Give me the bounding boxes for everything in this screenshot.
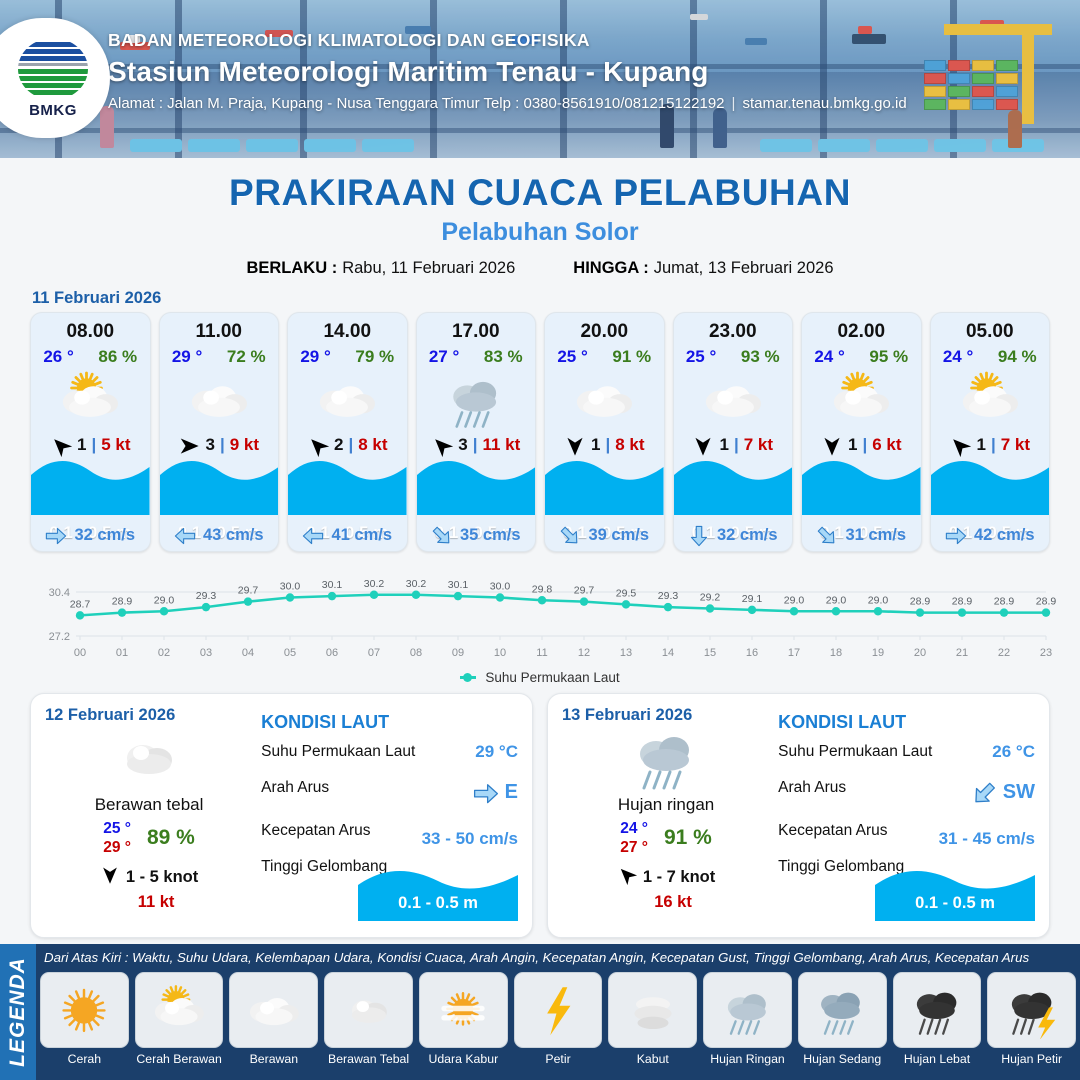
card-temperature: 29 ° xyxy=(300,347,330,367)
card-current-row: 32 cm/s xyxy=(674,526,793,545)
current-speed: 35 cm/s xyxy=(460,526,521,545)
svg-text:30.4: 30.4 xyxy=(49,587,70,599)
svg-text:18: 18 xyxy=(830,647,842,659)
card-humidity: 79 % xyxy=(355,347,394,367)
card-current-row: 35 cm/s xyxy=(417,526,536,545)
current-speed-value: 33 - 50 cm/s xyxy=(422,829,518,849)
wind-speed: 1 xyxy=(591,435,600,455)
wind-speed: 1 xyxy=(719,435,728,455)
wind-speed: 1 xyxy=(77,435,86,455)
svg-text:29.3: 29.3 xyxy=(196,590,217,602)
wave-graphic xyxy=(160,453,279,515)
card-wind-row: 1 | 7 kt xyxy=(949,435,1030,455)
daily-forecast-row: 12 Februari 2026 Berawan tebal 25 ° 29 °… xyxy=(0,685,1080,938)
current-speed-row: Kecepatan Arus 33 - 50 cm/s xyxy=(261,813,518,849)
daily-gust: 16 kt xyxy=(576,893,770,912)
current-speed: 42 cm/s xyxy=(974,526,1035,545)
svg-text:30.0: 30.0 xyxy=(280,581,301,593)
svg-text:19: 19 xyxy=(872,647,884,659)
svg-text:11: 11 xyxy=(536,647,547,659)
card-time: 20.00 xyxy=(580,321,628,343)
card-wind-row: 1 | 7 kt xyxy=(692,435,773,455)
wind-direction-arrow-icon xyxy=(50,435,72,455)
valid-to-value: Jumat, 13 Februari 2026 xyxy=(654,259,834,277)
daily-wave-graphic: 0.1 - 0.5 m xyxy=(875,863,1035,921)
wind-direction-arrow-icon xyxy=(692,435,714,455)
legend-item-label: Kabut xyxy=(637,1052,669,1066)
weather-cloudy-icon xyxy=(229,972,318,1048)
wave-graphic xyxy=(931,453,1050,515)
current-direction-label: Arah Arus xyxy=(261,779,329,797)
svg-text:29.1: 29.1 xyxy=(742,593,763,605)
card-temp-humidity: 29 ° 72 % xyxy=(160,347,279,367)
sea-conditions-heading: KONDISI LAUT xyxy=(261,712,518,733)
port-name: Pelabuhan Solor xyxy=(0,218,1080,247)
sst-chart-svg: 30.427.228.70028.90129.00229.30329.70430… xyxy=(22,566,1058,662)
svg-text:30.1: 30.1 xyxy=(448,579,469,591)
card-humidity: 94 % xyxy=(998,347,1037,367)
page-title: PRAKIRAAN CUACA PELABUHAN xyxy=(0,172,1080,214)
card-temperature: 25 ° xyxy=(686,347,716,367)
weather-sunny-icon xyxy=(40,972,129,1048)
svg-text:23: 23 xyxy=(1040,647,1052,659)
card-temp-humidity: 25 ° 93 % xyxy=(674,347,793,367)
station-name: Stasiun Meteorologi Maritim Tenau - Kupa… xyxy=(108,56,907,88)
wind-speed: 1 xyxy=(848,435,857,455)
card-current-row: 31 cm/s xyxy=(802,526,921,545)
valid-from-value: Rabu, 11 Februari 2026 xyxy=(342,259,515,277)
legend-item-label: Cerah Berawan xyxy=(136,1052,221,1066)
wind-gust: 5 kt xyxy=(101,435,130,455)
weather-cloudy-icon xyxy=(674,369,793,431)
wind-separator: | xyxy=(734,435,739,455)
chart-legend-dot-icon xyxy=(463,673,472,682)
legend-item-label: Udara Kabur xyxy=(428,1052,498,1066)
wind-direction-arrow-icon xyxy=(307,435,329,455)
wind-speed: 2 xyxy=(334,435,343,455)
legend-item-label: Hujan Lebat xyxy=(904,1052,970,1066)
card-wind-row: 1 | 5 kt xyxy=(50,435,131,455)
svg-text:06: 06 xyxy=(326,647,338,659)
hourly-forecast-card: 08.00 26 ° 86 % 1 | 5 kt 0.1 - 0.5 m 32 … xyxy=(30,312,151,552)
svg-text:30.2: 30.2 xyxy=(364,578,385,590)
wave-graphic xyxy=(31,453,150,515)
svg-text:29.0: 29.0 xyxy=(826,594,847,606)
svg-text:16: 16 xyxy=(746,647,758,659)
svg-text:29.3: 29.3 xyxy=(658,590,679,602)
daily-temp-min: 25 ° xyxy=(103,819,131,838)
daily-temp-max: 29 ° xyxy=(103,838,131,857)
current-direction-value-group: E xyxy=(473,781,518,804)
current-speed-value: 31 - 45 cm/s xyxy=(939,829,1035,849)
current-direction-arrow-icon xyxy=(816,527,838,545)
card-temp-humidity: 24 ° 95 % xyxy=(802,347,921,367)
weather-thunder-icon xyxy=(514,972,603,1048)
weather-haze-icon xyxy=(419,972,508,1048)
daily-temp-min: 24 ° xyxy=(620,819,648,838)
svg-text:28.9: 28.9 xyxy=(994,596,1015,608)
wind-separator: | xyxy=(473,435,478,455)
svg-text:12: 12 xyxy=(578,647,590,659)
svg-text:29.0: 29.0 xyxy=(154,594,175,606)
legend-item-label: Berawan xyxy=(250,1052,299,1066)
wind-separator: | xyxy=(862,435,867,455)
legend-item-label: Cerah xyxy=(68,1052,102,1066)
current-speed: 32 cm/s xyxy=(717,526,778,545)
legend-note: Dari Atas Kiri : Waktu, Suhu Udara, Kele… xyxy=(44,950,1074,965)
wind-speed: 3 xyxy=(458,435,467,455)
legend-item: Petir xyxy=(514,972,603,1080)
legend-item-label: Berawan Tebal xyxy=(328,1052,409,1066)
card-temp-humidity: 29 ° 79 % xyxy=(288,347,407,367)
card-time: 02.00 xyxy=(837,321,885,343)
legend-side-title: LEGENDA xyxy=(0,944,36,1080)
legend-items-row: Cerah Cerah Berawan Berawan Berawan Teba… xyxy=(40,972,1076,1080)
daily-humidity: 91 % xyxy=(664,826,712,850)
daily-temp-max: 27 ° xyxy=(620,838,648,857)
wind-direction-arrow-icon xyxy=(100,865,120,890)
card-humidity: 91 % xyxy=(612,347,651,367)
svg-text:10: 10 xyxy=(494,647,506,659)
daily-temp-humidity: 25 ° 29 ° 89 % xyxy=(45,819,253,858)
svg-text:30.0: 30.0 xyxy=(490,581,511,593)
current-direction-arrow-icon xyxy=(302,527,324,545)
weather-rain-heavy-icon xyxy=(893,972,982,1048)
legend-item: Berawan Tebal xyxy=(324,972,413,1080)
weather-rain-light-icon xyxy=(703,972,792,1048)
agency-name: BADAN METEOROLOGI KLIMATOLOGI DAN GEOFIS… xyxy=(108,30,907,51)
weather-fog-icon xyxy=(608,972,697,1048)
card-current-row: 41 cm/s xyxy=(288,526,407,545)
valid-from-label: BERLAKU : xyxy=(246,259,337,277)
chart-legend-label: Suhu Permukaan Laut xyxy=(485,670,619,685)
wind-gust: 8 kt xyxy=(615,435,644,455)
daily-condition: Berawan tebal xyxy=(45,795,253,815)
weather-cloudy-icon xyxy=(545,369,664,431)
wind-gust: 7 kt xyxy=(744,435,773,455)
current-speed-row: Kecepatan Arus 31 - 45 cm/s xyxy=(778,813,1035,849)
daily-humidity: 89 % xyxy=(147,826,195,850)
wave-graphic xyxy=(802,453,921,515)
current-direction-arrow-icon xyxy=(45,527,67,545)
sea-conditions-heading: KONDISI LAUT xyxy=(778,712,1035,733)
daily-forecast-panel: 12 Februari 2026 Berawan tebal 25 ° 29 °… xyxy=(30,693,533,938)
current-direction-arrow-icon xyxy=(431,527,453,545)
card-time: 23.00 xyxy=(709,321,757,343)
card-current-row: 32 cm/s xyxy=(31,526,150,545)
legend-item: Hujan Lebat xyxy=(893,972,982,1080)
validity-row: BERLAKU :Rabu, 11 Februari 2026 HINGGA :… xyxy=(0,259,1080,278)
wind-direction-arrow-icon xyxy=(431,435,453,455)
card-wind-row: 3 | 9 kt xyxy=(178,435,259,455)
weather-cloudy-icon xyxy=(160,369,279,431)
wind-direction-arrow-icon xyxy=(617,865,637,890)
current-speed: 41 cm/s xyxy=(331,526,392,545)
wind-separator: | xyxy=(348,435,353,455)
daily-wind-range: 1 - 5 knot xyxy=(126,868,198,887)
daily-wind-range: 1 - 7 knot xyxy=(643,868,715,887)
wind-speed: 1 xyxy=(976,435,985,455)
station-address: Alamat : Jalan M. Praja, Kupang - Nusa T… xyxy=(108,95,725,112)
svg-text:28.9: 28.9 xyxy=(112,596,133,608)
hourly-forecast-card: 11.00 29 ° 72 % 3 | 9 kt 0.1 - 0.5 m 43 … xyxy=(159,312,280,552)
current-direction-value: E xyxy=(505,781,518,804)
bmkg-logo-text: BMKG xyxy=(29,102,77,119)
sst-label: Suhu Permukaan Laut xyxy=(261,743,415,761)
current-direction-arrow-icon xyxy=(473,783,499,803)
page-header: BMKG BADAN METEOROLOGI KLIMATOLOGI DAN G… xyxy=(0,0,1080,158)
card-temperature: 25 ° xyxy=(557,347,587,367)
card-time: 17.00 xyxy=(452,321,500,343)
weather-cloudy-icon xyxy=(288,369,407,431)
wind-separator: | xyxy=(220,435,225,455)
hourly-forecast-card: 02.00 24 ° 95 % 1 | 6 kt 0.1 - 0.5 m 31 … xyxy=(801,312,922,552)
station-address-line: Alamat : Jalan M. Praja, Kupang - Nusa T… xyxy=(108,95,907,112)
card-time: 14.00 xyxy=(323,321,371,343)
svg-text:03: 03 xyxy=(200,647,212,659)
sst-chart: 30.427.228.70028.90129.00229.30329.70430… xyxy=(22,566,1058,666)
card-temperature: 29 ° xyxy=(172,347,202,367)
svg-text:28.7: 28.7 xyxy=(70,598,91,610)
svg-text:07: 07 xyxy=(368,647,380,659)
legend-item-label: Petir xyxy=(545,1052,570,1066)
wave-graphic xyxy=(674,453,793,515)
hourly-forecast-row: 08.00 26 ° 86 % 1 | 5 kt 0.1 - 0.5 m 32 … xyxy=(0,312,1080,552)
wind-gust: 9 kt xyxy=(230,435,259,455)
legend-item: Kabut xyxy=(608,972,697,1080)
card-temperature: 26 ° xyxy=(43,347,73,367)
sst-row: Suhu Permukaan Laut 29 °C xyxy=(261,742,518,762)
card-temperature: 24 ° xyxy=(814,347,844,367)
legend-item: Berawan xyxy=(229,972,318,1080)
svg-text:29.7: 29.7 xyxy=(574,585,595,597)
daily-temp-range: 25 ° 29 ° xyxy=(103,819,131,858)
wind-separator: | xyxy=(605,435,610,455)
current-direction-row: Arah Arus SW xyxy=(778,771,1035,804)
current-speed-label: Kecepatan Arus xyxy=(261,822,370,840)
valid-to-label: HINGGA : xyxy=(573,259,648,277)
sst-row: Suhu Permukaan Laut 26 °C xyxy=(778,742,1035,762)
daily-forecast-panel: 13 Februari 2026 Hujan ringan 24 ° 27 ° … xyxy=(547,693,1050,938)
valid-to: HINGGA :Jumat, 13 Februari 2026 xyxy=(573,259,833,278)
hourly-forecast-card: 23.00 25 ° 93 % 1 | 7 kt 0.1 - 0.5 m 32 … xyxy=(673,312,794,552)
legend-item-label: Hujan Petir xyxy=(1001,1052,1062,1066)
containers-illustration xyxy=(922,60,1072,140)
daily-wave-graphic: 0.1 - 0.5 m xyxy=(358,863,518,921)
legend-item: Cerah Berawan xyxy=(135,972,224,1080)
card-temp-humidity: 25 ° 91 % xyxy=(545,347,664,367)
weather-overcast-icon xyxy=(324,972,413,1048)
svg-text:22: 22 xyxy=(998,647,1010,659)
current-direction-arrow-icon xyxy=(688,527,710,545)
legend-item: Hujan Petir xyxy=(987,972,1076,1080)
current-direction-arrow-icon xyxy=(174,527,196,545)
svg-text:29.0: 29.0 xyxy=(868,594,889,606)
daily-sea-conditions: KONDISI LAUT Suhu Permukaan Laut 26 °C A… xyxy=(770,706,1035,925)
legend-section: LEGENDA Dari Atas Kiri : Waktu, Suhu Uda… xyxy=(0,944,1080,1080)
weather-partly-cloudy-icon xyxy=(135,972,224,1048)
wind-direction-arrow-icon xyxy=(949,435,971,455)
legend-item: Hujan Ringan xyxy=(703,972,792,1080)
current-speed: 39 cm/s xyxy=(588,526,649,545)
current-direction-arrow-icon xyxy=(559,527,581,545)
svg-text:29.7: 29.7 xyxy=(238,585,259,597)
card-temperature: 27 ° xyxy=(429,347,459,367)
wind-gust: 11 kt xyxy=(482,435,520,455)
wind-gust: 6 kt xyxy=(872,435,901,455)
wave-graphic xyxy=(417,453,536,515)
card-wind-row: 3 | 11 kt xyxy=(431,435,520,455)
current-direction-arrow-icon xyxy=(945,527,967,545)
current-speed-label: Kecepatan Arus xyxy=(778,822,887,840)
card-current-row: 43 cm/s xyxy=(160,526,279,545)
svg-text:14: 14 xyxy=(662,647,674,659)
weather-overcast-icon xyxy=(45,727,253,789)
daily-wave-value: 0.1 - 0.5 m xyxy=(358,894,518,913)
daily-gust: 11 kt xyxy=(59,893,253,912)
wind-gust: 8 kt xyxy=(358,435,387,455)
current-direction-row: Arah Arus E xyxy=(261,771,518,804)
sst-value: 26 °C xyxy=(992,742,1035,762)
legend-item-label: Hujan Sedang xyxy=(803,1052,881,1066)
wind-direction-arrow-icon xyxy=(821,435,843,455)
weather-rain-light-icon xyxy=(417,369,536,431)
svg-text:17: 17 xyxy=(788,647,800,659)
card-current-row: 39 cm/s xyxy=(545,526,664,545)
card-humidity: 72 % xyxy=(227,347,266,367)
card-temp-humidity: 26 ° 86 % xyxy=(31,347,150,367)
svg-text:29.0: 29.0 xyxy=(784,594,805,606)
svg-text:27.2: 27.2 xyxy=(49,631,70,643)
svg-text:29.5: 29.5 xyxy=(616,587,637,599)
hourly-forecast-card: 20.00 25 ° 91 % 1 | 8 kt 0.1 - 0.5 m 39 … xyxy=(544,312,665,552)
valid-from: BERLAKU :Rabu, 11 Februari 2026 xyxy=(246,259,515,278)
svg-text:15: 15 xyxy=(704,647,716,659)
svg-text:08: 08 xyxy=(410,647,422,659)
wind-speed: 3 xyxy=(205,435,214,455)
card-humidity: 93 % xyxy=(741,347,780,367)
wind-separator: | xyxy=(91,435,96,455)
current-speed: 43 cm/s xyxy=(203,526,264,545)
card-wind-row: 1 | 8 kt xyxy=(564,435,645,455)
wind-direction-arrow-icon xyxy=(178,435,200,455)
forecast-day-label: 11 Februari 2026 xyxy=(32,289,1080,308)
svg-text:13: 13 xyxy=(620,647,632,659)
legend-item: Hujan Sedang xyxy=(798,972,887,1080)
wave-graphic xyxy=(288,453,407,515)
current-direction-value: SW xyxy=(1003,781,1035,804)
card-temperature: 24 ° xyxy=(943,347,973,367)
svg-text:05: 05 xyxy=(284,647,296,659)
card-time: 11.00 xyxy=(196,321,243,343)
card-current-row: 42 cm/s xyxy=(931,526,1050,545)
card-humidity: 86 % xyxy=(98,347,137,367)
sst-value: 29 °C xyxy=(475,742,518,762)
weather-rain-thunder-icon xyxy=(987,972,1076,1048)
svg-text:09: 09 xyxy=(452,647,464,659)
card-time: 05.00 xyxy=(966,321,1014,343)
svg-text:04: 04 xyxy=(242,647,254,659)
svg-text:02: 02 xyxy=(158,647,170,659)
svg-text:20: 20 xyxy=(914,647,926,659)
svg-text:28.9: 28.9 xyxy=(952,596,973,608)
card-temp-humidity: 27 ° 83 % xyxy=(417,347,536,367)
daily-temp-range: 24 ° 27 ° xyxy=(620,819,648,858)
weather-partly-cloudy-icon xyxy=(931,369,1050,431)
wind-gust: 7 kt xyxy=(1001,435,1030,455)
daily-sea-conditions: KONDISI LAUT Suhu Permukaan Laut 29 °C A… xyxy=(253,706,518,925)
hourly-forecast-card: 05.00 24 ° 94 % 1 | 7 kt 0.1 - 0.5 m 42 … xyxy=(930,312,1051,552)
legend-item: Cerah xyxy=(40,972,129,1080)
card-time: 08.00 xyxy=(66,321,114,343)
card-wind-row: 2 | 8 kt xyxy=(307,435,388,455)
svg-text:30.1: 30.1 xyxy=(322,579,343,591)
current-speed: 32 cm/s xyxy=(74,526,135,545)
sst-label: Suhu Permukaan Laut xyxy=(778,743,932,761)
hourly-forecast-card: 17.00 27 ° 83 % 3 | 11 kt 0.1 - 0.5 m xyxy=(416,312,537,552)
svg-text:28.9: 28.9 xyxy=(910,596,931,608)
card-humidity: 95 % xyxy=(869,347,908,367)
daily-wind-row: 1 - 5 knot xyxy=(45,865,253,890)
chart-legend: Suhu Permukaan Laut xyxy=(0,670,1080,685)
weather-partly-cloudy-icon xyxy=(802,369,921,431)
wind-separator: | xyxy=(991,435,996,455)
legend-item-label: Hujan Ringan xyxy=(710,1052,785,1066)
svg-text:00: 00 xyxy=(74,647,86,659)
wind-direction-arrow-icon xyxy=(564,435,586,455)
daily-left-column: 12 Februari 2026 Berawan tebal 25 ° 29 °… xyxy=(45,706,253,925)
hourly-forecast-card: 14.00 29 ° 79 % 2 | 8 kt 0.1 - 0.5 m 41 … xyxy=(287,312,408,552)
daily-condition: Hujan ringan xyxy=(562,795,770,815)
weather-rain-light-icon xyxy=(562,727,770,789)
address-separator: | xyxy=(732,95,736,112)
bmkg-logo-mark xyxy=(18,38,88,100)
header-text-block: BADAN METEOROLOGI KLIMATOLOGI DAN GEOFIS… xyxy=(108,30,907,112)
current-direction-label: Arah Arus xyxy=(778,779,846,797)
legend-item: Udara Kabur xyxy=(419,972,508,1080)
svg-text:01: 01 xyxy=(116,647,128,659)
card-humidity: 83 % xyxy=(484,347,523,367)
station-website: stamar.tenau.bmkg.go.id xyxy=(742,95,906,112)
daily-wave-value: 0.1 - 0.5 m xyxy=(875,894,1035,913)
svg-text:30.2: 30.2 xyxy=(406,578,427,590)
svg-text:29.8: 29.8 xyxy=(532,583,553,595)
daily-wind-row: 1 - 7 knot xyxy=(562,865,770,890)
card-wind-row: 1 | 6 kt xyxy=(821,435,902,455)
weather-rain-moderate-icon xyxy=(798,972,887,1048)
card-temp-humidity: 24 ° 94 % xyxy=(931,347,1050,367)
waiting-chairs-illustration xyxy=(0,130,1080,154)
daily-left-column: 13 Februari 2026 Hujan ringan 24 ° 27 ° … xyxy=(562,706,770,925)
weather-partly-cloudy-icon xyxy=(31,369,150,431)
daily-temp-humidity: 24 ° 27 ° 91 % xyxy=(562,819,770,858)
svg-text:29.2: 29.2 xyxy=(700,592,721,604)
current-speed: 31 cm/s xyxy=(845,526,906,545)
wave-graphic xyxy=(545,453,664,515)
svg-text:28.9: 28.9 xyxy=(1036,596,1057,608)
current-direction-arrow-icon xyxy=(971,783,997,803)
svg-text:21: 21 xyxy=(956,647,968,659)
legend-side-title-text: LEGENDA xyxy=(6,957,30,1067)
current-direction-value-group: SW xyxy=(971,781,1035,804)
